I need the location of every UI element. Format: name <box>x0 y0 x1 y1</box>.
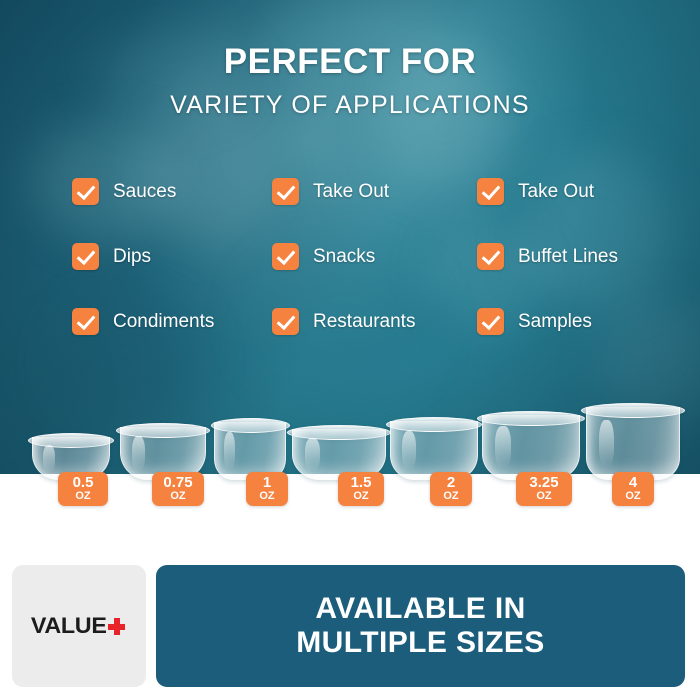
size-badge-0-75oz: 0.75 OZ <box>152 472 204 506</box>
check-icon <box>272 178 299 205</box>
checklist-item-sauces: Sauces <box>72 178 272 205</box>
portion-cup-4oz <box>586 408 678 480</box>
size-badge-value: 4 <box>612 475 654 491</box>
cup-highlight <box>402 431 416 469</box>
size-badge-value: 1.5 <box>338 475 384 491</box>
checklist-row: Dips Snacks Buffet Lines <box>72 243 672 270</box>
page-title: PERFECT FOR <box>0 44 700 79</box>
banner-line-1: AVAILABLE IN <box>315 592 525 626</box>
checklist-item-snacks: Snacks <box>272 243 477 270</box>
checklist-item-label: Sauces <box>113 181 176 203</box>
size-badge-unit: OZ <box>152 491 204 503</box>
plus-icon <box>108 618 125 635</box>
cup-highlight <box>495 426 510 468</box>
size-badge-4oz: 4 OZ <box>612 472 654 506</box>
cup-highlight <box>305 438 320 471</box>
checklist-item-condiments: Condiments <box>72 308 272 335</box>
cup-highlight <box>132 436 145 470</box>
checklist-item-label: Dips <box>113 246 151 268</box>
checklist-item-dips: Dips <box>72 243 272 270</box>
portion-cup-lineup <box>0 404 700 480</box>
page-subtitle: VARIETY OF APPLICATIONS <box>0 93 700 118</box>
value-plus-logo: VALUE <box>33 613 124 639</box>
size-badge-value: 2 <box>430 475 472 491</box>
size-badge-1-5oz: 1.5 OZ <box>338 472 384 506</box>
brand-logo-panel: VALUE <box>12 565 146 687</box>
size-badge-group: 0.5 OZ 0.75 OZ 1 OZ 1.5 OZ 2 OZ 3.25 OZ … <box>0 472 700 512</box>
check-icon <box>72 178 99 205</box>
checklist-row: Sauces Take Out Take Out <box>72 178 672 205</box>
size-badge-0-5oz: 0.5 OZ <box>58 472 108 506</box>
application-checklist: Sauces Take Out Take Out Dips Snacks <box>72 178 672 335</box>
header-block: PERFECT FOR VARIETY OF APPLICATIONS <box>0 44 700 118</box>
size-badge-value: 0.75 <box>152 475 204 491</box>
size-badge-1oz: 1 OZ <box>246 472 288 506</box>
checklist-item-take-out-2: Take Out <box>477 178 672 205</box>
size-badge-unit: OZ <box>612 491 654 503</box>
check-icon <box>477 243 504 270</box>
check-icon <box>72 308 99 335</box>
checklist-item-label: Buffet Lines <box>518 246 618 268</box>
checklist-item-label: Samples <box>518 311 592 333</box>
banner-line-2: MULTIPLE SIZES <box>296 626 544 660</box>
size-badge-value: 3.25 <box>516 475 572 491</box>
checklist-item-label: Restaurants <box>313 311 415 333</box>
checklist-item-label: Take Out <box>313 181 389 203</box>
cup-highlight <box>224 432 235 470</box>
check-icon <box>72 243 99 270</box>
check-icon <box>477 178 504 205</box>
check-icon <box>272 243 299 270</box>
checklist-row: Condiments Restaurants Samples <box>72 308 672 335</box>
size-badge-unit: OZ <box>58 491 108 503</box>
portion-cup-3-25oz <box>482 416 578 480</box>
size-badge-unit: OZ <box>338 491 384 503</box>
check-icon <box>272 308 299 335</box>
checklist-item-label: Take Out <box>518 181 594 203</box>
check-icon <box>477 308 504 335</box>
size-badge-unit: OZ <box>516 491 572 503</box>
infographic-page: PERFECT FOR VARIETY OF APPLICATIONS Sauc… <box>0 0 700 700</box>
cup-highlight <box>43 445 55 473</box>
checklist-item-label: Condiments <box>113 311 214 333</box>
checklist-item-take-out: Take Out <box>272 178 477 205</box>
cup-highlight <box>599 420 614 468</box>
checklist-item-samples: Samples <box>477 308 672 335</box>
size-badge-2oz: 2 OZ <box>430 472 472 506</box>
checklist-item-label: Snacks <box>313 246 375 268</box>
size-badge-3-25oz: 3.25 OZ <box>516 472 572 506</box>
size-badge-unit: OZ <box>430 491 472 503</box>
size-badge-unit: OZ <box>246 491 288 503</box>
logo-wordmark: VALUE <box>31 613 107 639</box>
checklist-item-restaurants: Restaurants <box>272 308 477 335</box>
checklist-item-buffet-lines: Buffet Lines <box>477 243 672 270</box>
size-badge-value: 0.5 <box>58 475 108 491</box>
availability-banner: AVAILABLE IN MULTIPLE SIZES <box>156 565 685 687</box>
size-badge-value: 1 <box>246 475 288 491</box>
